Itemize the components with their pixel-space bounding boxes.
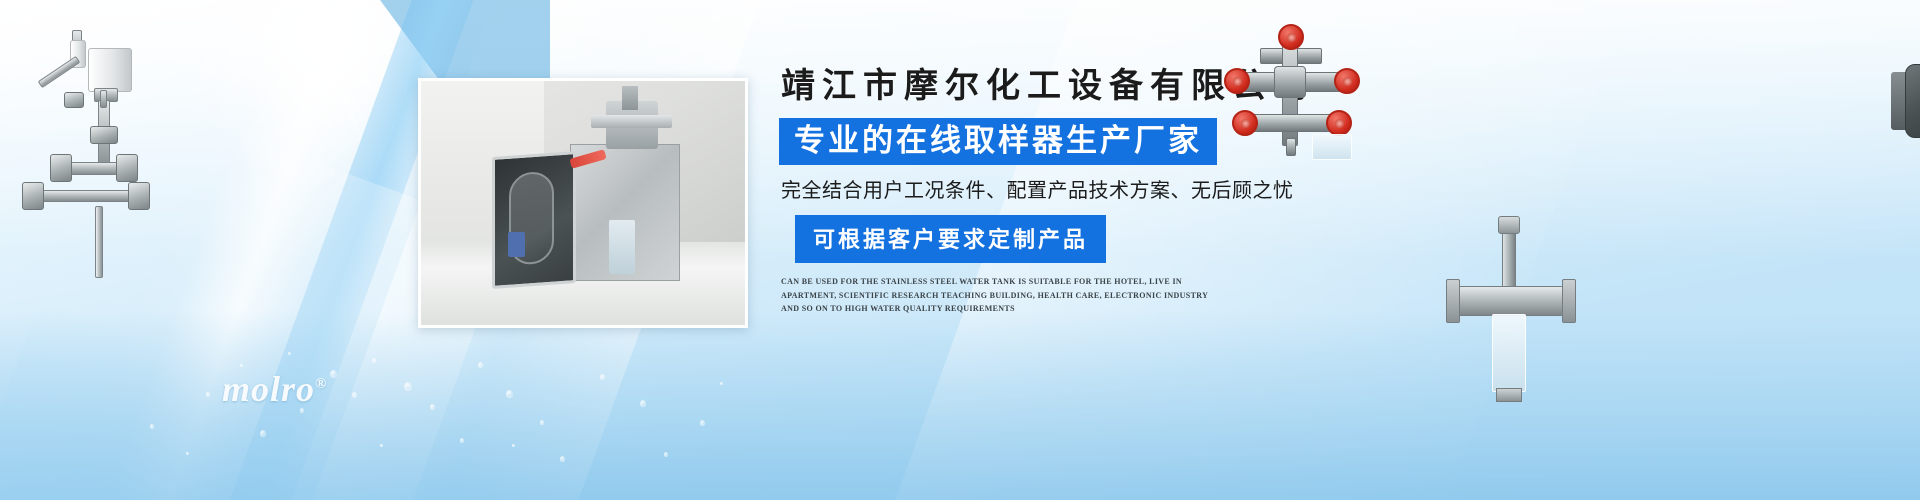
watermark-logo: molro®	[222, 368, 327, 410]
watermark-text: molro	[222, 369, 315, 409]
registered-mark-icon: ®	[315, 376, 327, 392]
english-description: CAN BE USED FOR THE STAINLESS STEEL WATE…	[781, 275, 1211, 315]
tagline-highlight: 可根据客户要求定制产品	[795, 215, 1106, 263]
headline-highlight: 专业的在线取样器生产厂家	[779, 118, 1217, 165]
tree-valve-product-image	[1216, 38, 1366, 158]
top-right-valve-product-image	[1895, 28, 1920, 213]
left-product-image	[10, 30, 160, 290]
product-photo	[418, 78, 748, 328]
promo-banner: 靖江市摩尔化工设备有限公司 专业的在线取样器生产厂家 完全结合用户工况条件、配置…	[0, 0, 1920, 500]
sub-headline: 完全结合用户工况条件、配置产品技术方案、无后顾之忧	[781, 181, 1399, 201]
bottom-right-sampler-product-image	[1440, 230, 1600, 430]
